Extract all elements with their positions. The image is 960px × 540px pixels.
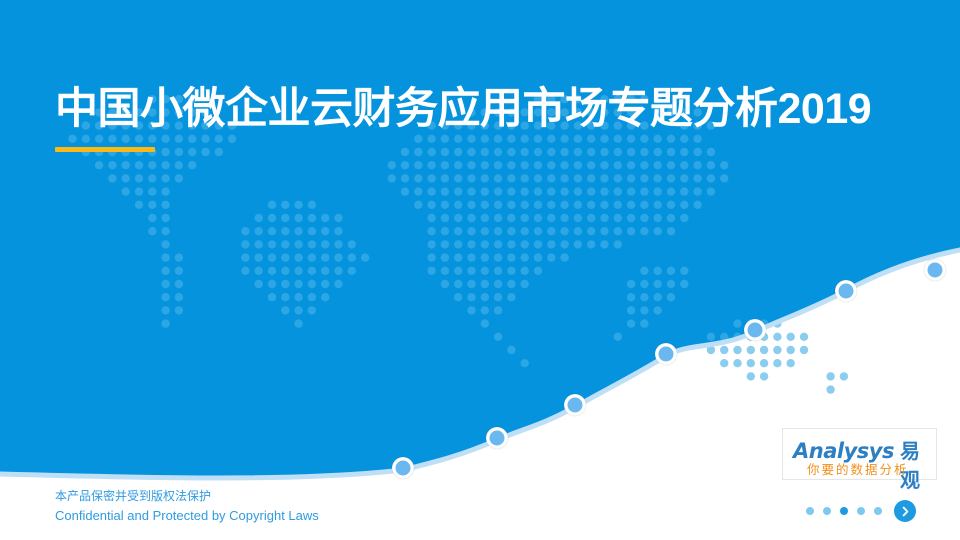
page-title: 中国小微企业云财务应用市场专题分析2019 (55, 84, 935, 135)
brand-logo: Analysys 易观 你要的数据分析 (782, 428, 937, 480)
confidential-text-cn: 本产品保密并受到版权法保护 (55, 487, 319, 506)
title-accent-rule (55, 147, 155, 152)
chevron-right-icon (900, 506, 911, 517)
next-slide-button[interactable] (894, 500, 916, 522)
confidential-notice: 本产品保密并受到版权法保护 Confidential and Protected… (55, 487, 319, 525)
pagination-indicator[interactable] (806, 500, 916, 522)
pager-dot-1[interactable] (806, 507, 814, 515)
title-block: 中国小微企业云财务应用市场专题分析2019 (55, 84, 935, 152)
logo-tagline: 你要的数据分析 (807, 459, 909, 478)
pager-dot-2[interactable] (823, 507, 831, 515)
slide-canvas: 中国小微企业云财务应用市场专题分析2019 本产品保密并受到版权法保护 Conf… (0, 0, 960, 540)
confidential-text-en: Confidential and Protected by Copyright … (55, 506, 319, 525)
pager-dot-3[interactable] (840, 507, 848, 515)
pager-dot-5[interactable] (874, 507, 882, 515)
pager-dot-4[interactable] (857, 507, 865, 515)
